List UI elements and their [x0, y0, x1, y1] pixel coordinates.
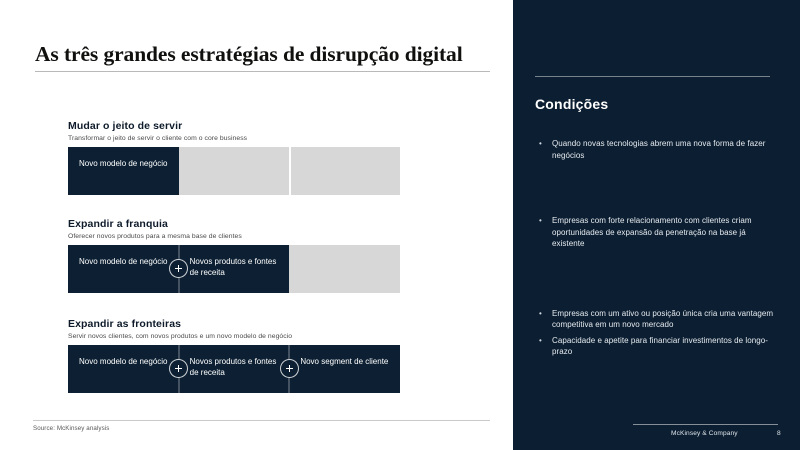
plus-circle-icon — [169, 259, 188, 278]
slide-root: As três grandes estratégias de disrupção… — [0, 0, 800, 450]
section-3-heading: Expandir as fronteiras — [68, 318, 400, 330]
plus-connector-icon — [278, 345, 300, 393]
bullet-dot-icon: • — [539, 308, 542, 320]
section-1-cell-1-label: Novo modelo de negócio — [79, 158, 173, 170]
list-item: • Empresas com um ativo ou posição única… — [535, 308, 775, 331]
section-2-subheading: Oferecer novos produtos para a mesma bas… — [68, 233, 400, 240]
section-2-heading: Expandir a franquia — [68, 218, 400, 230]
conditions-panel: Condições • Quando novas tecnologias abr… — [513, 0, 800, 450]
brand-label: McKinsey & Company — [671, 430, 738, 437]
section-1-heading: Mudar o jeito de servir — [68, 120, 400, 132]
slide-left-content: As três grandes estratégias de disrupção… — [0, 0, 513, 450]
source-rule — [33, 420, 490, 421]
section-1-cell-3[interactable] — [289, 147, 400, 195]
spacer — [535, 250, 775, 308]
section-3-cell-1-label: Novo modelo de negócio — [79, 356, 173, 368]
section-1-cell-2[interactable] — [179, 147, 290, 195]
section-3-subheading: Servir novos clientes, com novos produto… — [68, 333, 400, 340]
page-title: As três grandes estratégias de disrupção… — [35, 42, 490, 67]
section-3-cell-3-label: Novo segment de cliente — [300, 356, 394, 368]
bullet-dot-icon: • — [539, 335, 542, 347]
panel-title: Condições — [535, 96, 608, 112]
list-item-text: Empresas com um ativo ou posição única c… — [552, 309, 773, 330]
panel-bullet-list: • Quando novas tecnologias abrem uma nov… — [535, 138, 775, 358]
source-note: Source: McKinsey analysis — [33, 425, 109, 432]
strategy-section-3: Expandir as fronteiras Servir novos clie… — [68, 318, 400, 393]
list-item-text: Empresas com forte relacionamento com cl… — [552, 216, 752, 248]
section-2-cell-1[interactable]: Novo modelo de negócio — [68, 245, 179, 293]
title-underline — [35, 71, 490, 72]
section-1-cell-1[interactable]: Novo modelo de negócio — [68, 147, 179, 195]
section-1-divider-1 — [289, 147, 290, 195]
plus-connector-icon — [168, 345, 190, 393]
strategy-section-1: Mudar o jeito de servir Transformar o je… — [68, 120, 400, 195]
section-1-row: Novo modelo de negócio — [68, 147, 400, 195]
section-3-cell-3[interactable]: Novo segment de cliente — [289, 345, 400, 393]
section-2-row: Novo modelo de negócio Novos produtos e … — [68, 245, 400, 293]
section-2-cell-2-label: Novos produtos e fontes de receita — [190, 256, 284, 279]
plus-connector-icon — [168, 245, 190, 293]
list-item-text: Capacidade e apetite para financiar inve… — [552, 336, 768, 357]
panel-footer-rule — [633, 424, 778, 425]
section-3-row: Novo modelo de negócio Novos produtos e … — [68, 345, 400, 393]
list-item: • Empresas com forte relacionamento com … — [535, 215, 775, 250]
section-2-cell-3[interactable] — [289, 245, 400, 293]
page-title-block: As três grandes estratégias de disrupção… — [35, 42, 490, 72]
plus-circle-icon — [280, 359, 299, 378]
bullet-dot-icon: • — [539, 138, 542, 150]
section-3-cell-2[interactable]: Novos produtos e fontes de receita — [179, 345, 290, 393]
section-3-cell-1[interactable]: Novo modelo de negócio — [68, 345, 179, 393]
spacer — [535, 161, 775, 215]
section-2-cell-2[interactable]: Novos produtos e fontes de receita — [179, 245, 290, 293]
strategy-section-2: Expandir a franquia Oferecer novos produ… — [68, 218, 400, 293]
section-1-subheading: Transformar o jeito de servir o cliente … — [68, 135, 400, 142]
list-item: • Quando novas tecnologias abrem uma nov… — [535, 138, 775, 161]
list-item: • Capacidade e apetite para financiar in… — [535, 335, 775, 358]
list-item-text: Quando novas tecnologias abrem uma nova … — [552, 139, 766, 160]
section-2-cell-1-label: Novo modelo de negócio — [79, 256, 173, 268]
page-number: 8 — [777, 430, 781, 437]
panel-top-rule — [535, 76, 770, 77]
bullet-dot-icon: • — [539, 215, 542, 227]
plus-circle-icon — [169, 359, 188, 378]
section-3-cell-2-label: Novos produtos e fontes de receita — [190, 356, 284, 379]
